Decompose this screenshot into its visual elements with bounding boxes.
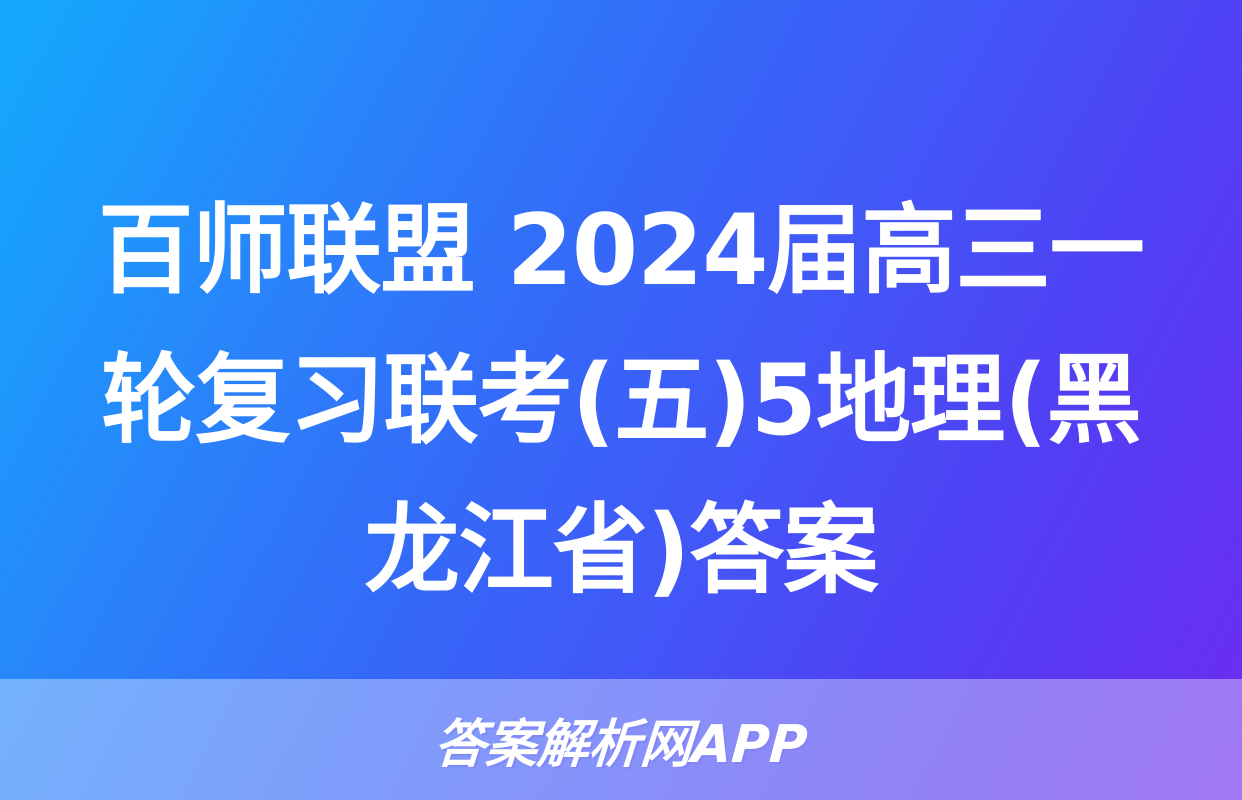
title-line-1: 百师联盟 2024届高三一 — [36, 176, 1206, 326]
title-line-2: 轮复习联考(五)5地理(黑 — [36, 326, 1206, 476]
title-line-3: 龙江省)答案 — [36, 476, 1206, 626]
page-title: 百师联盟 2024届高三一 轮复习联考(五)5地理(黑 龙江省)答案 — [0, 176, 1242, 626]
watermark-label: 答案解析网APP — [432, 702, 810, 777]
cover-page: 百师联盟 2024届高三一 轮复习联考(五)5地理(黑 龙江省)答案 答案解析网… — [0, 0, 1242, 800]
watermark: 答案解析网APP — [0, 699, 1242, 779]
